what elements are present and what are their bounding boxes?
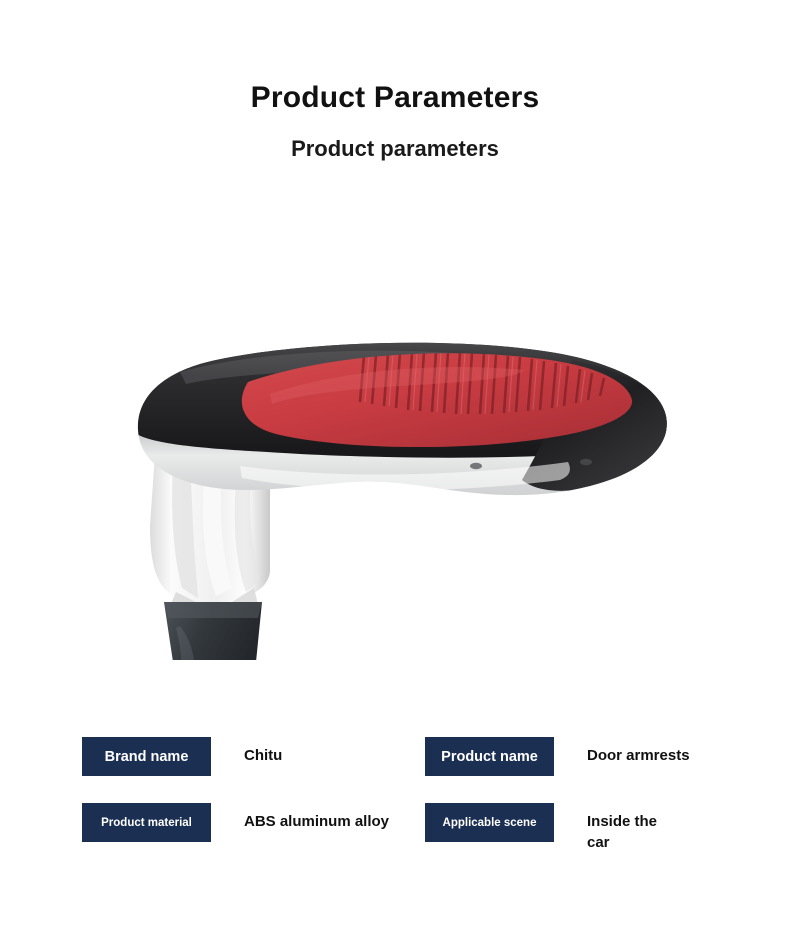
parameter-value-brand-name: Chitu xyxy=(211,737,425,766)
parameter-value-product-material: ABS aluminum alloy xyxy=(211,803,425,832)
product-screw-dimple xyxy=(580,459,592,465)
parameter-value-product-name: Door armrests xyxy=(554,737,768,766)
product-body xyxy=(130,338,674,495)
parameter-label-applicable-scene: Applicable scene xyxy=(425,803,554,842)
page-header: Product Parameters Product parameters xyxy=(0,78,790,164)
parameter-item-product-name: Product name Door armrests xyxy=(425,737,768,776)
page-subtitle: Product parameters xyxy=(0,134,790,164)
product-base-cap xyxy=(164,602,262,660)
parameter-label-product-material: Product material xyxy=(82,803,211,842)
parameter-row: Product material ABS aluminum alloy Appl… xyxy=(82,803,742,853)
product-image-stage xyxy=(0,300,790,680)
parameter-row: Brand name Chitu Product name Door armre… xyxy=(82,737,742,776)
parameter-label-product-name: Product name xyxy=(425,737,554,776)
parameter-label-brand-name: Brand name xyxy=(82,737,211,776)
parameter-item-product-material: Product material ABS aluminum alloy xyxy=(82,803,425,842)
parameter-value-applicable-scene: Inside the car xyxy=(554,803,664,853)
product-photo-armrest xyxy=(120,320,680,660)
parameter-item-applicable-scene: Applicable scene Inside the car xyxy=(425,803,768,853)
product-screw-dimple xyxy=(470,463,482,469)
parameter-item-brand-name: Brand name Chitu xyxy=(82,737,425,776)
page-title: Product Parameters xyxy=(0,78,790,118)
product-parameters-table: Brand name Chitu Product name Door armre… xyxy=(82,737,742,880)
